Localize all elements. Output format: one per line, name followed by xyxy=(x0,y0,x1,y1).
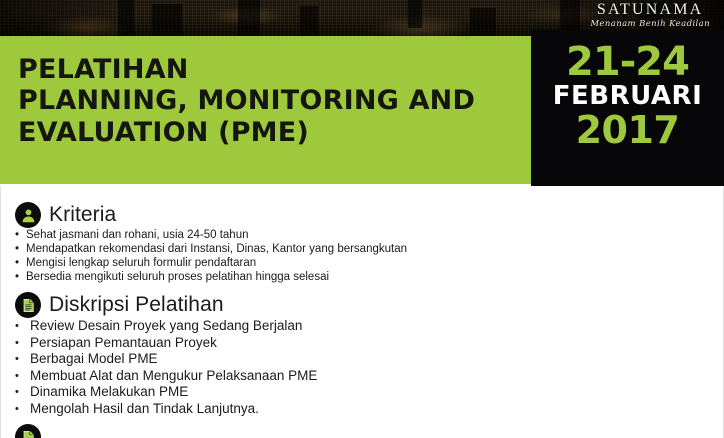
section-partial-below-fold xyxy=(15,424,41,438)
document-icon xyxy=(15,292,41,318)
kriteria-list: Sehat jasmani dan rohani, usia 24-50 tah… xyxy=(15,228,407,284)
date-block: 21-24 FEBRUARI 2017 xyxy=(531,30,724,186)
diskripsi-list: Review Desain Proyek yang Sedang Berjala… xyxy=(15,318,317,417)
document-icon xyxy=(15,424,41,438)
date-year: 2017 xyxy=(531,111,724,149)
training-flyer: SATUNAMA Menanam Benih Keadilan PELATIHA… xyxy=(0,0,724,438)
section-header: Kriteria xyxy=(15,202,407,228)
list-item: Bersedia mengikuti seluruh proses pelati… xyxy=(15,270,407,284)
list-item: Mendapatkan rekomendasi dari Instansi, D… xyxy=(15,242,407,256)
list-item: Sehat jasmani dan rohani, usia 24-50 tah… xyxy=(15,228,407,242)
satunama-logo: SATUNAMA Menanam Benih Keadilan xyxy=(590,2,710,29)
page-title: PELATIHAN PLANNING, MONITORING AND EVALU… xyxy=(18,54,531,148)
section-title: Kriteria xyxy=(49,203,116,227)
person-icon xyxy=(15,202,41,228)
section-title: Diskripsi Pelatihan xyxy=(49,293,224,317)
date-range: 21-24 xyxy=(531,42,724,82)
list-item: Persiapan Pemantauan Proyek xyxy=(15,335,317,352)
logo-tagline: Menanam Benih Keadilan xyxy=(590,20,710,29)
list-item: Mengolah Hasil dan Tindak Lanjutnya. xyxy=(15,401,317,418)
date-month: FEBRUARI xyxy=(531,83,724,110)
logo-name: SATUNAMA xyxy=(590,2,710,18)
section-diskripsi-pelatihan: Diskripsi Pelatihan Review Desain Proyek… xyxy=(15,292,317,417)
list-item: Dinamika Melakukan PME xyxy=(15,384,317,401)
section-kriteria: Kriteria Sehat jasmani dan rohani, usia … xyxy=(15,202,407,284)
title-banner: PELATIHAN PLANNING, MONITORING AND EVALU… xyxy=(0,36,531,184)
section-header: Diskripsi Pelatihan xyxy=(15,292,317,318)
list-item: Berbagai Model PME xyxy=(15,351,317,368)
list-item: Review Desain Proyek yang Sedang Berjala… xyxy=(15,318,317,335)
content-area: Kriteria Sehat jasmani dan rohani, usia … xyxy=(0,186,724,438)
list-item: Mengisi lengkap seluruh formulir pendaft… xyxy=(15,256,407,270)
section-header xyxy=(15,424,41,438)
list-item: Membuat Alat dan Mengukur Pelaksanaan PM… xyxy=(15,368,317,385)
